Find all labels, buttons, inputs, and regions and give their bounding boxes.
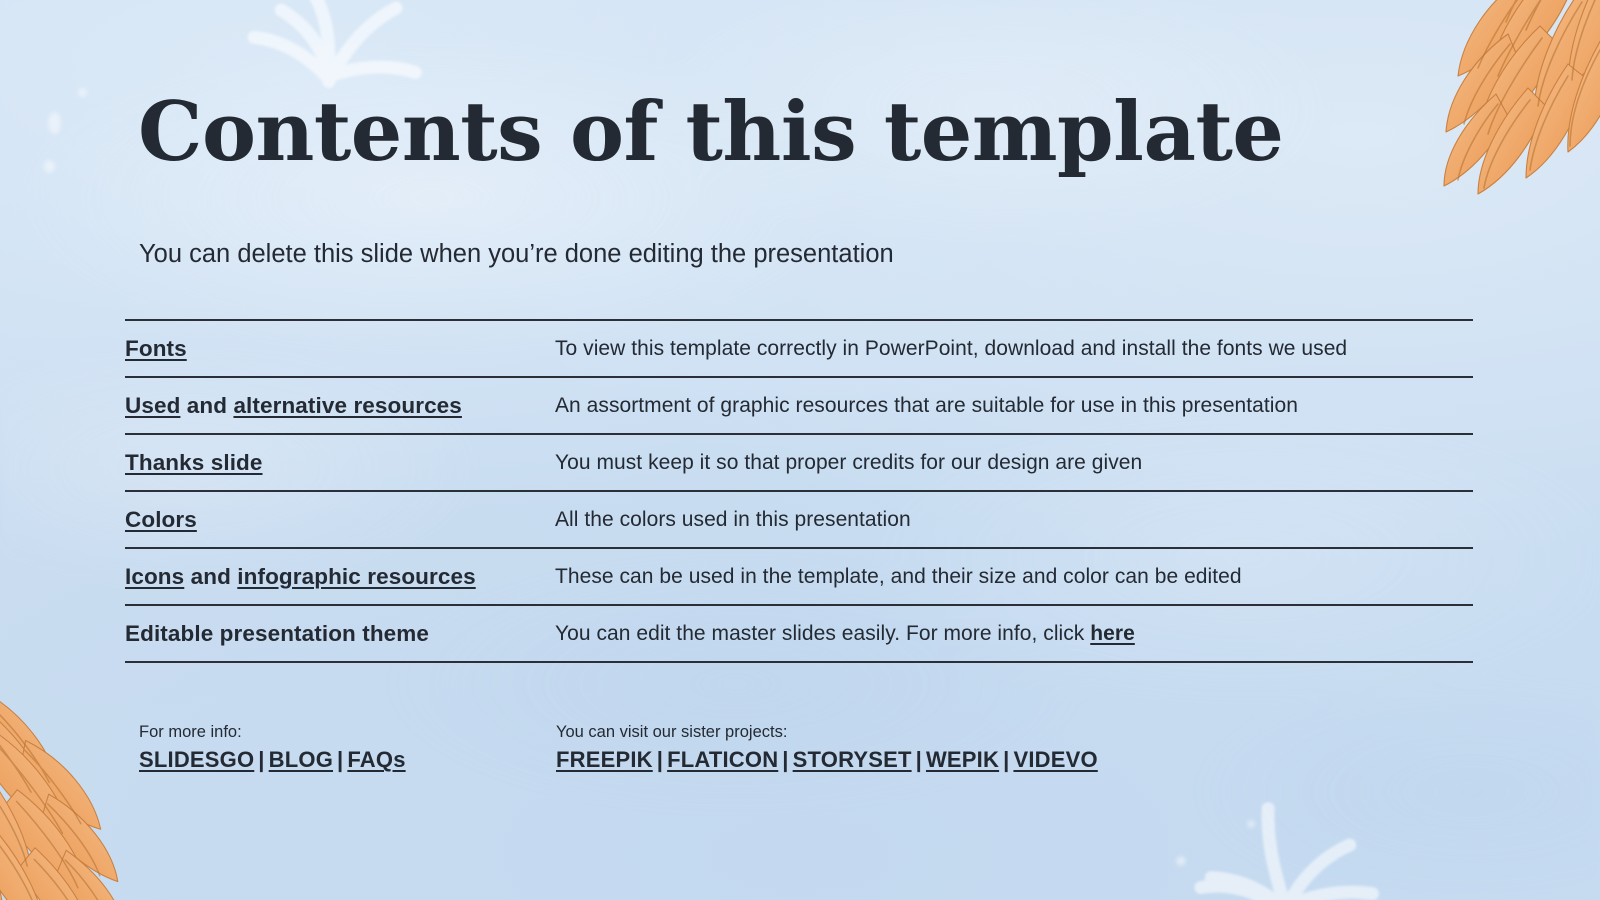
footer-separator: | bbox=[999, 747, 1013, 772]
table-cell-description: An assortment of graphic resources that … bbox=[555, 377, 1473, 434]
item-text: and bbox=[184, 564, 237, 589]
footer-link-freepik[interactable]: FREEPIK bbox=[556, 747, 653, 772]
footer-separator: | bbox=[653, 747, 667, 772]
table-cell-description: You can edit the master slides easily. F… bbox=[555, 605, 1473, 662]
description-text: These can be used in the template, and t… bbox=[555, 565, 1242, 588]
item-link[interactable]: Fonts bbox=[125, 336, 187, 361]
slide-content: Contents of this template You can delete… bbox=[0, 0, 1600, 900]
table-row: FontsTo view this template correctly in … bbox=[125, 320, 1473, 377]
item-text: and bbox=[180, 393, 233, 418]
item-link[interactable]: Colors bbox=[125, 507, 197, 532]
footer-more-info-label: For more info: bbox=[139, 722, 406, 743]
table-row: ColorsAll the colors used in this presen… bbox=[125, 491, 1473, 548]
footer-sister-projects: You can visit our sister projects: FREEP… bbox=[556, 722, 1098, 774]
footer-sister-projects-label: You can visit our sister projects: bbox=[556, 722, 1098, 743]
footer-separator: | bbox=[912, 747, 926, 772]
footer-link-slidesgo[interactable]: SLIDESGO bbox=[139, 747, 254, 772]
description-text: All the colors used in this presentation bbox=[555, 508, 911, 531]
description-text: You can edit the master slides easily. F… bbox=[555, 622, 1090, 645]
footer-link-storyset[interactable]: STORYSET bbox=[793, 747, 912, 772]
table-row: Icons and infographic resourcesThese can… bbox=[125, 548, 1473, 605]
description-text: To view this template correctly in Power… bbox=[555, 337, 1347, 360]
table-cell-item: Fonts bbox=[125, 320, 555, 377]
footer-link-flaticon[interactable]: FLATICON bbox=[667, 747, 778, 772]
table-row: Editable presentation themeYou can edit … bbox=[125, 605, 1473, 662]
table-cell-description: All the colors used in this presentation bbox=[555, 491, 1473, 548]
table-cell-description: These can be used in the template, and t… bbox=[555, 548, 1473, 605]
footer-separator: | bbox=[778, 747, 792, 772]
table-cell-item: Icons and infographic resources bbox=[125, 548, 555, 605]
footer-link-videvo[interactable]: VIDEVO bbox=[1013, 747, 1097, 772]
contents-table: FontsTo view this template correctly in … bbox=[125, 319, 1473, 663]
slide-subtitle: You can delete this slide when you’re do… bbox=[139, 239, 894, 270]
table-row: Thanks slideYou must keep it so that pro… bbox=[125, 434, 1473, 491]
table-cell-description: You must keep it so that proper credits … bbox=[555, 434, 1473, 491]
description-text: You must keep it so that proper credits … bbox=[555, 451, 1142, 474]
table-cell-item: Editable presentation theme bbox=[125, 605, 555, 662]
item-link[interactable]: Icons bbox=[125, 564, 184, 589]
table-cell-item: Used and alternative resources bbox=[125, 377, 555, 434]
description-link[interactable]: here bbox=[1090, 622, 1135, 645]
footer-link-blog[interactable]: BLOG bbox=[269, 747, 333, 772]
page-title: Contents of this template bbox=[138, 92, 1283, 173]
footer-separator: | bbox=[333, 747, 347, 772]
footer-link-wepik[interactable]: WEPIK bbox=[926, 747, 999, 772]
description-text: An assortment of graphic resources that … bbox=[555, 394, 1298, 417]
footer-more-info: For more info: SLIDESGO|BLOG|FAQs bbox=[139, 722, 406, 774]
contents-table-body: FontsTo view this template correctly in … bbox=[125, 320, 1473, 662]
item-text: Editable presentation theme bbox=[125, 621, 429, 646]
footer-sister-projects-links: FREEPIK|FLATICON|STORYSET|WEPIK|VIDEVO bbox=[556, 746, 1098, 774]
table-row: Used and alternative resourcesAn assortm… bbox=[125, 377, 1473, 434]
table-cell-item: Colors bbox=[125, 491, 555, 548]
table-cell-description: To view this template correctly in Power… bbox=[555, 320, 1473, 377]
slide-canvas: Contents of this template You can delete… bbox=[0, 0, 1600, 900]
item-link[interactable]: Thanks slide bbox=[125, 450, 263, 475]
footer-separator: | bbox=[254, 747, 268, 772]
footer-more-info-links: SLIDESGO|BLOG|FAQs bbox=[139, 746, 406, 774]
item-link[interactable]: infographic resources bbox=[237, 564, 475, 589]
table-cell-item: Thanks slide bbox=[125, 434, 555, 491]
item-link[interactable]: alternative resources bbox=[233, 393, 461, 418]
footer-link-faqs[interactable]: FAQs bbox=[347, 747, 405, 772]
item-link[interactable]: Used bbox=[125, 393, 180, 418]
